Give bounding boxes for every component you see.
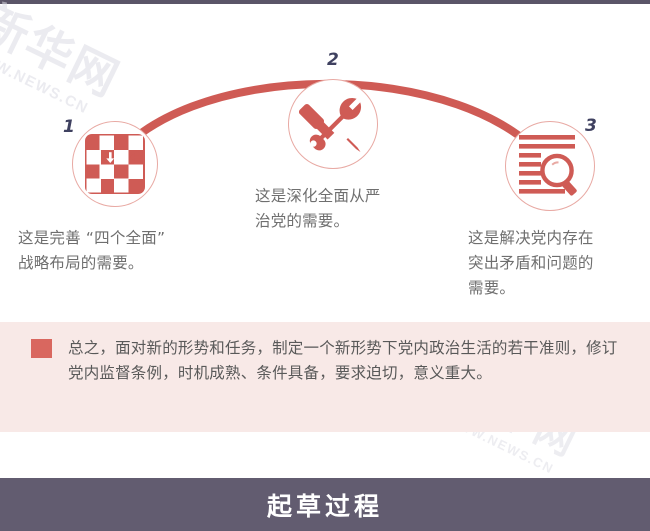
step-3-caption: 这是解决党内存在 突出矛盾和问题的 需要。 (468, 226, 643, 301)
step-3-number: 3 (585, 118, 597, 135)
step-2-caption: 这是深化全面从严 治党的需要。 (255, 184, 440, 234)
top-rule-divider (0, 0, 650, 4)
watermark-en-text: WWW.NEWS.CN (0, 44, 104, 124)
step-1-number: 1 (63, 119, 75, 136)
summary-text: 总之，面对新的形势和任务，制定一个新形势下党内政治生活的若干准则，修订党内监督条… (68, 336, 628, 386)
step-2-number: 2 (327, 52, 339, 69)
document-magnifier-icon (518, 133, 584, 199)
footer-title: 起草过程 (0, 478, 650, 531)
infographic-canvas: 新华网 WWW.NEWS.CN 新华网 WWW.NEWS.CN 1 (0, 0, 650, 531)
footer-bar: 起草过程 (0, 478, 650, 531)
watermark-cn-text: 新华网 (0, 0, 128, 108)
wrench-screwdriver-icon (299, 90, 367, 158)
watermark-top: 新华网 WWW.NEWS.CN (0, 0, 126, 124)
square-marker-icon (31, 339, 52, 358)
checkerboard-arrows-icon (84, 133, 146, 195)
step-1-caption: 这是完善 “四个全面” 战略布局的需要。 (18, 226, 233, 276)
